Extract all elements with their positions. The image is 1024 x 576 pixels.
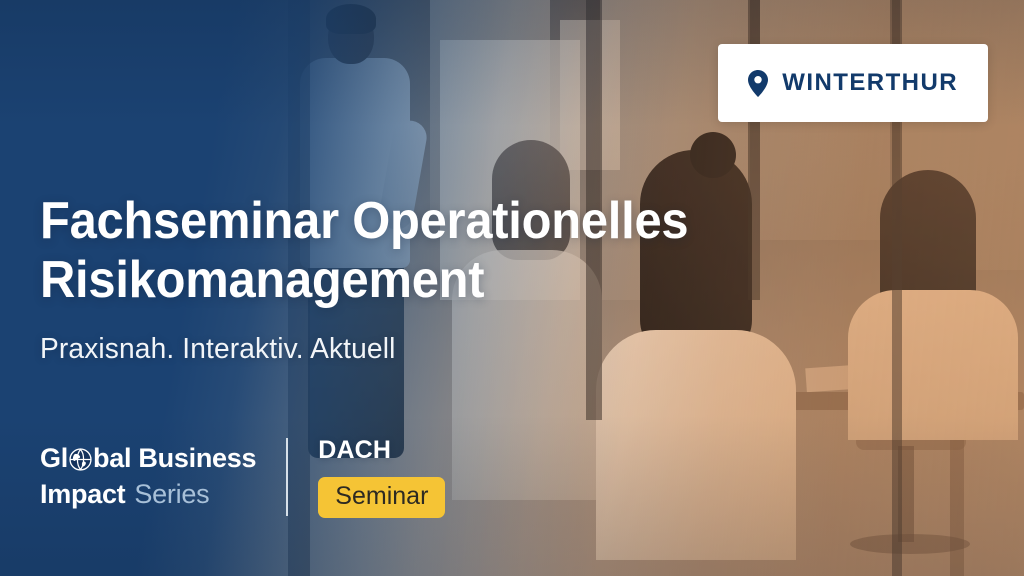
- brand-series-text: Series: [134, 477, 209, 513]
- subtitle: Praxisnah. Interaktiv. Aktuell: [40, 333, 758, 366]
- title-line-1: Fachseminar Operationelles: [40, 192, 736, 251]
- brand-line-1: Gl bal Business: [40, 441, 256, 477]
- globe-icon: [69, 448, 92, 471]
- brand-text-before-globe: Gl: [40, 441, 68, 477]
- presentation-slide: WINTERTHUR Fachseminar Operationelles Ri…: [0, 0, 1024, 576]
- brand-logo: Gl bal Business Impact Series: [40, 436, 286, 518]
- category-block: DACH Seminar: [288, 436, 445, 518]
- location-badge[interactable]: WINTERTHUR: [718, 44, 988, 122]
- title-line-2: Risikomanagement: [40, 251, 736, 310]
- page-title: Fachseminar Operationelles Risikomanagem…: [40, 192, 736, 311]
- region-label: DACH: [318, 436, 445, 465]
- map-pin-icon: [748, 70, 768, 97]
- brand-line-2: Impact Series: [40, 477, 256, 513]
- format-badge: Seminar: [318, 477, 445, 518]
- brand-text-after-globe: bal Business: [93, 441, 256, 477]
- headline-block: Fachseminar Operationelles Risikomanagem…: [40, 192, 780, 366]
- footer-lockup: Gl bal Business Impact Series DACH Semin…: [40, 436, 445, 518]
- brand-impact-text: Impact: [40, 477, 125, 513]
- vertical-divider: [286, 438, 288, 516]
- location-label: WINTERTHUR: [782, 69, 958, 97]
